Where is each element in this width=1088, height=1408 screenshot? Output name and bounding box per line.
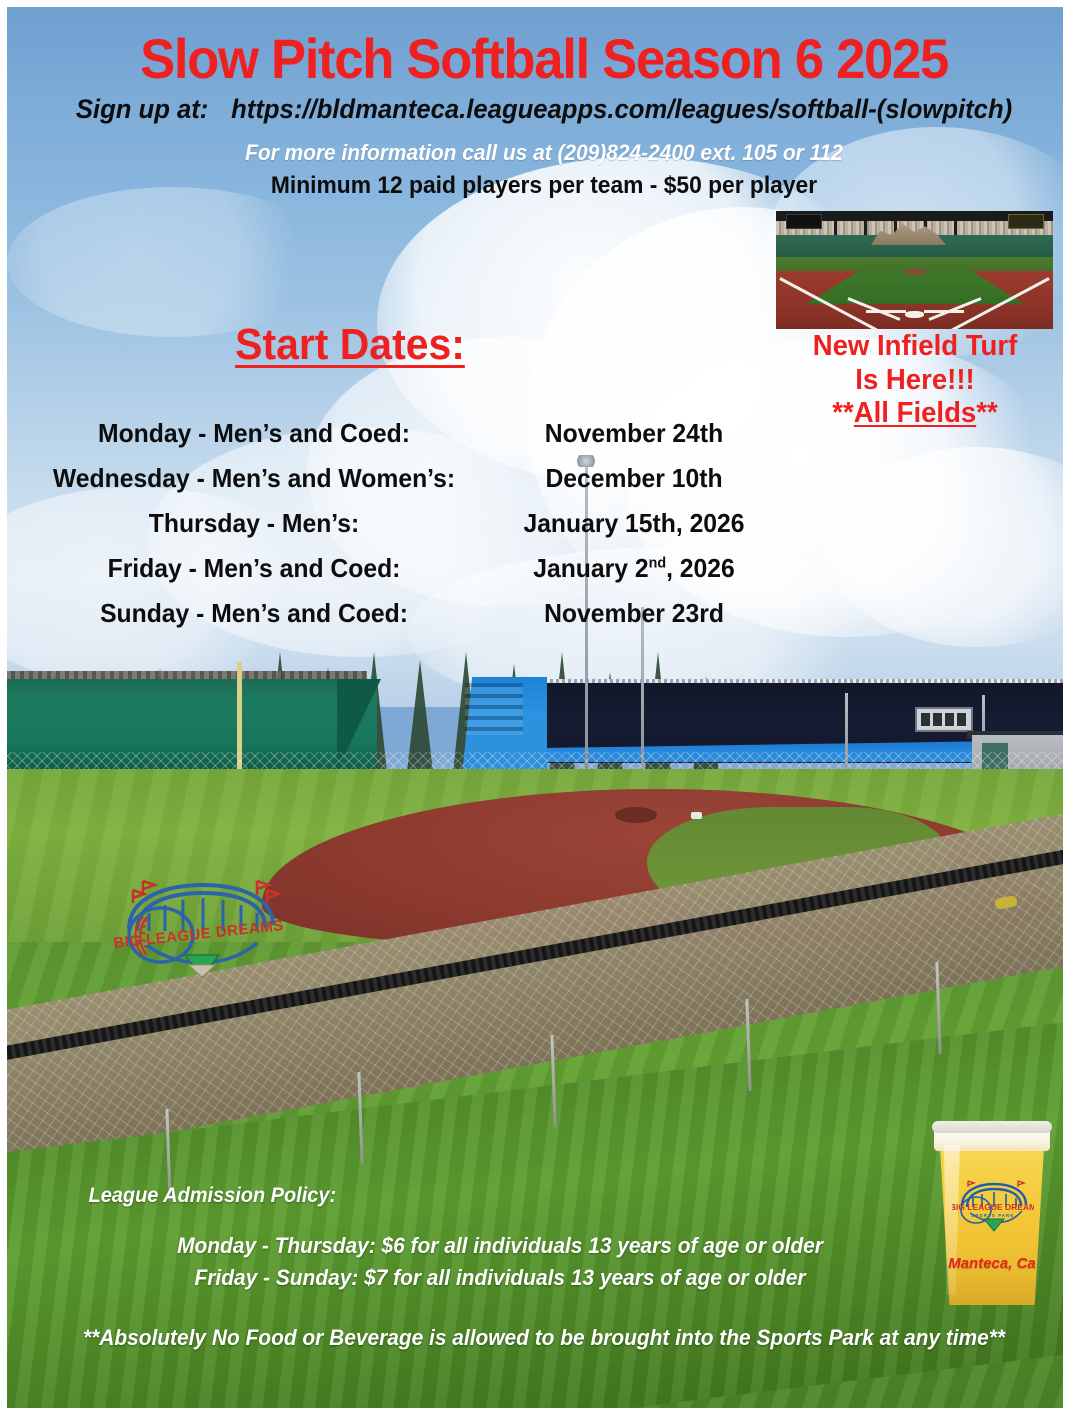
new-turf-callout: New Infield Turf Is Here!!! **All Fields… [770, 330, 1060, 431]
signup-line: Sign up at:https://bldmanteca.leagueapps… [27, 94, 1061, 125]
row-day-label: Monday - Men’s and Coed: [36, 418, 473, 449]
flyer-page: BIG LEAGUE DREAMS [0, 0, 1088, 1408]
turf-callout-stars-right: ** [976, 397, 997, 429]
minimum-players-line: Minimum 12 paid players per team - $50 p… [27, 172, 1061, 200]
row-date-prefix: January 2 [533, 553, 648, 583]
cup-rim [932, 1121, 1052, 1133]
cup-logo-text: BIG LEAGUE DREAM [952, 1202, 1034, 1212]
page-title: Slow Pitch Softball Season 6 2025 [33, 26, 1056, 91]
row-day-label: Sunday - Men’s and Coed: [36, 598, 473, 629]
turf-callout-line3: **All Fields** [777, 397, 1053, 431]
scoreboard-panel [915, 707, 973, 732]
row-date-value: November 23rd [492, 598, 777, 629]
blue-batters-eye-slats [465, 683, 523, 735]
cup-bld-logo: BIG LEAGUE DREAM SPORTS PARK [952, 1179, 1034, 1234]
admission-policy-line-1: Monday - Thursday: $6 for all individual… [25, 1233, 975, 1259]
inset-mound [904, 269, 926, 275]
turf-callout-line2: Is Here!!! [777, 364, 1053, 398]
inset-batter-box-line [866, 310, 906, 313]
signup-url[interactable]: https://bldmanteca.leagueapps.com/league… [231, 94, 1012, 124]
row-date-value: January 2nd, 2026 [492, 553, 777, 584]
row-date-value: November 24th [492, 418, 777, 449]
admission-policy-line-2: Friday - Sunday: $7 for all individuals … [25, 1265, 975, 1291]
no-outside-food-note: **Absolutely No Food or Beverage is allo… [27, 1325, 1061, 1351]
table-row: Monday - Men’s and Coed: November 24th [24, 418, 784, 463]
table-row: Thursday - Men’s: January 15th, 2026 [24, 508, 784, 553]
pitchers-mound [615, 807, 657, 823]
inset-scoreboard-right [1008, 214, 1044, 229]
table-row: Wednesday - Men’s and Women’s: December … [24, 463, 784, 508]
table-row: Sunday - Men’s and Coed: November 23rd [24, 598, 784, 643]
inset-home-plate [905, 311, 924, 318]
inset-batter-box-line [924, 310, 964, 313]
admission-policy-title: League Admission Policy: [89, 1184, 337, 1208]
big-league-dreams-logo: BIG LEAGUE DREAMS [107, 873, 292, 983]
row-date-ordinal: nd [649, 554, 667, 571]
row-day-label: Wednesday - Men’s and Women’s: [36, 463, 473, 494]
turf-callout-stars-left: ** [832, 397, 853, 429]
row-day-label: Thursday - Men’s: [36, 508, 473, 539]
signup-label: Sign up at: [76, 94, 209, 124]
start-dates-heading: Start Dates: [145, 320, 554, 370]
new-turf-inset-photo [776, 211, 1053, 329]
base-marker [691, 812, 702, 819]
cup-logo-subtext: SPORTS PARK [971, 1213, 1014, 1218]
start-dates-table: Monday - Men’s and Coed: November 24th W… [24, 418, 784, 643]
inset-scoreboard-left [786, 214, 822, 229]
row-day-label: Friday - Men’s and Coed: [36, 553, 473, 584]
start-dates-heading-text: Start Dates: [235, 320, 465, 369]
row-date-value: December 10th [492, 463, 777, 494]
row-date-value: January 15th, 2026 [492, 508, 777, 539]
turf-callout-all-fields: All Fields [854, 397, 976, 429]
row-date-suffix: , 2026 [666, 553, 735, 583]
turf-callout-line1: New Infield Turf [777, 330, 1053, 364]
table-row: Friday - Men’s and Coed: January 2nd, 20… [24, 553, 784, 598]
contact-phone-line: For more information call us at (209)824… [27, 140, 1061, 166]
